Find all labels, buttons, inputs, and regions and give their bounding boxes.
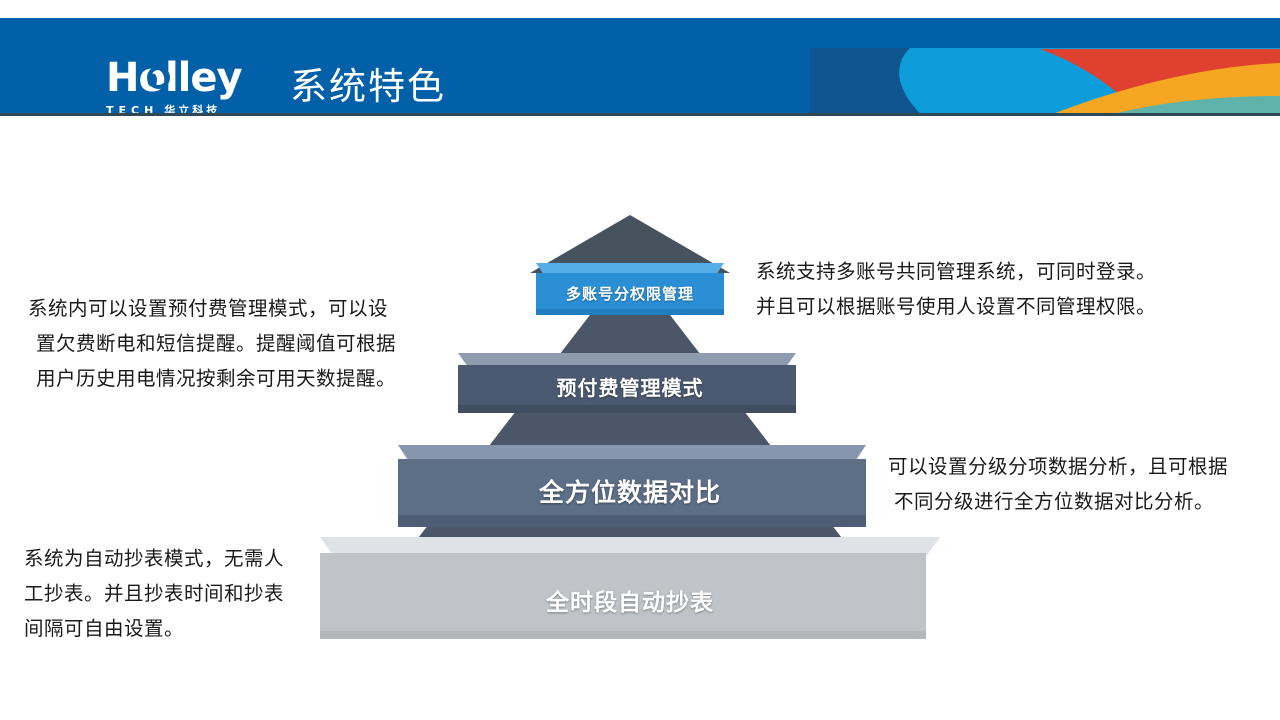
note-bottom-left-line-3: 间隔可自由设置。 xyxy=(24,612,354,647)
note-top-right-line-1: 系统支持多账号共同管理系统，可同时登录。 xyxy=(756,255,1196,290)
level-2-shadow-edge xyxy=(458,405,796,413)
brand-logo: Holley TECH 华立科技 xyxy=(106,58,266,115)
level-4-label: 全时段自动抄表 xyxy=(300,583,960,617)
page-title: 系统特色 xyxy=(290,65,446,109)
note-top-left-line-1: 系统内可以设置预付费管理模式，可以设 xyxy=(28,292,448,327)
header-underline xyxy=(0,113,1280,116)
note-bottom-left-line-2: 工抄表。并且抄表时间和抄表 xyxy=(24,577,354,612)
note-bottom-left-line-1: 系统为自动抄表模式，无需人 xyxy=(24,542,354,577)
level-3-label: 全方位数据对比 xyxy=(300,473,960,509)
note-top-right-line-2: 并且可以根据账号使用人设置不同管理权限。 xyxy=(756,290,1196,325)
level-1-shadow-edge xyxy=(536,309,724,315)
header-bar: Holley TECH 华立科技 系统特色 xyxy=(0,18,1280,115)
brand-wordmark-text: Holley xyxy=(106,55,242,101)
header-swoosh-decoration xyxy=(810,18,1280,115)
note-bottom-right: 可以设置分级分项数据分析，且可根据 不同分级进行全方位数据对比分析。 xyxy=(888,450,1280,520)
note-top-left: 系统内可以设置预付费管理模式，可以设 置欠费断电和短信提醒。提醒阈值可根据 用户… xyxy=(28,292,448,397)
level-2-top-face xyxy=(458,353,796,367)
level-4-bottom-edge xyxy=(320,631,926,639)
note-bottom-left: 系统为自动抄表模式，无需人 工抄表。并且抄表时间和抄表 间隔可自由设置。 xyxy=(24,542,354,647)
note-top-right: 系统支持多账号共同管理系统，可同时登录。 并且可以根据账号使用人设置不同管理权限… xyxy=(756,255,1196,325)
slide-canvas: Holley TECH 华立科技 系统特色 xyxy=(0,0,1280,720)
brand-wordmark: Holley xyxy=(106,58,266,98)
level-3-shadow-edge xyxy=(398,515,866,527)
note-bottom-right-line-1: 可以设置分级分项数据分析，且可根据 xyxy=(888,450,1280,485)
note-bottom-right-line-2: 不同分级进行全方位数据对比分析。 xyxy=(888,485,1280,520)
note-top-left-line-2: 置欠费断电和短信提醒。提醒阈值可根据 xyxy=(28,327,448,362)
note-top-left-line-3: 用户历史用电情况按剩余可用天数提醒。 xyxy=(28,362,448,397)
